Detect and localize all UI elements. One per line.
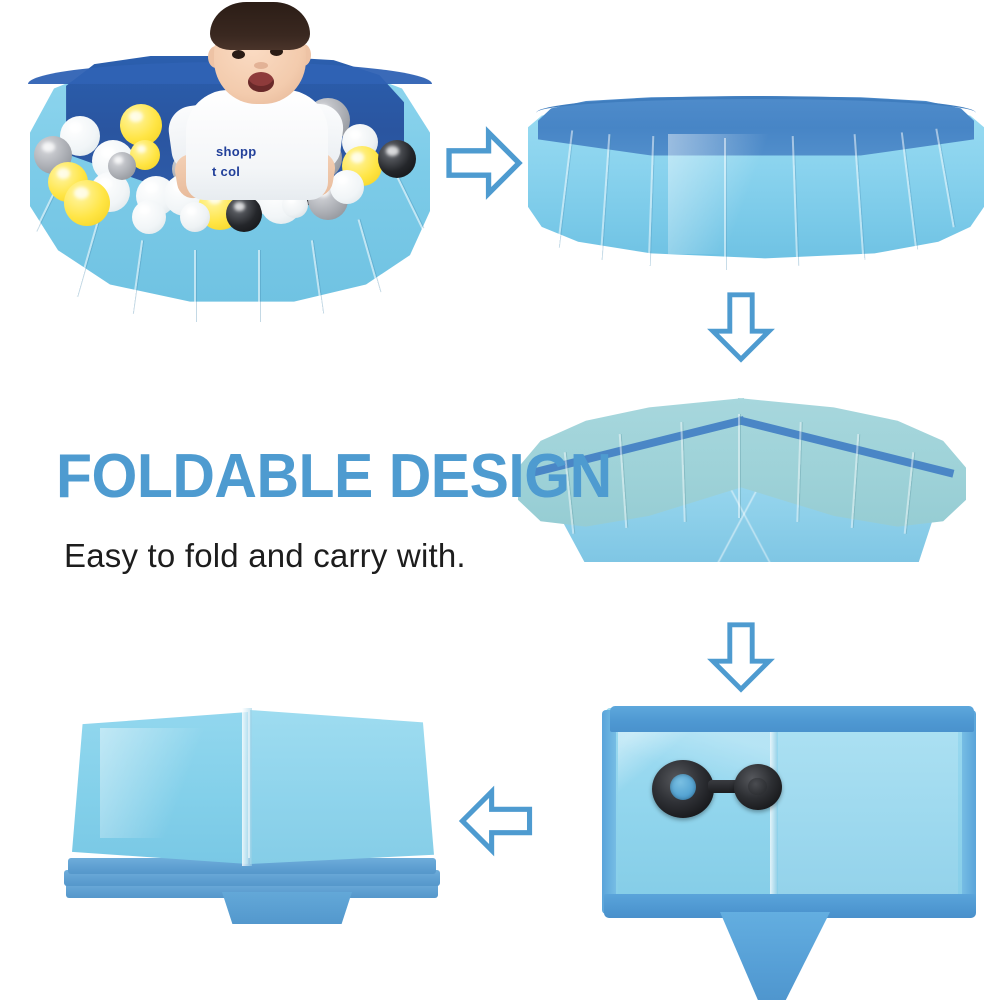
child-nose — [254, 62, 268, 69]
tshirt-text-line-2: t col — [212, 164, 322, 179]
fully-folded-stack-photo — [64, 694, 444, 924]
child-mouth — [248, 72, 274, 92]
headline-block: FOLDABLE DESIGN Easy to fold and carry w… — [56, 446, 486, 576]
folded-stack-tab — [222, 892, 352, 924]
folded-pool-crease — [770, 728, 777, 900]
drain-valve-opening — [670, 774, 696, 800]
unfolded-empty-pool-photo — [528, 88, 984, 274]
folded-pool-edge-left — [602, 710, 616, 914]
play-ball — [330, 170, 364, 204]
tshirt-text-line-1: shopp — [216, 144, 326, 159]
ballpit-panel-seam — [194, 250, 196, 322]
pool-panel-seam — [724, 138, 726, 270]
ball-pit-with-child-photo: shopp t col — [12, 0, 448, 325]
play-ball — [180, 202, 210, 232]
page-subtitle: Easy to fold and carry with. — [64, 538, 486, 574]
drain-valve-cap — [734, 764, 782, 810]
arrow-down-icon — [706, 292, 776, 362]
folded-stack-top-right — [250, 710, 434, 864]
child-hair — [210, 2, 310, 50]
folded-pool-edge-right — [962, 710, 976, 914]
folded-panel-seam — [738, 414, 740, 518]
child-eye-left — [232, 50, 245, 59]
folded-pool-edge-top — [610, 706, 974, 732]
folded-pool-hanging-flap — [720, 912, 830, 1000]
play-ball — [64, 180, 110, 226]
page-title: FOLDABLE DESIGN — [56, 446, 465, 508]
arrow-down-icon — [706, 622, 776, 692]
arrow-right-icon — [446, 126, 522, 200]
folded-stack-top-left — [72, 712, 248, 864]
play-ball — [108, 152, 136, 180]
child-figure: shopp t col — [182, 2, 332, 202]
folded-pool-with-drain-valve-photo — [596, 698, 986, 983]
play-ball — [378, 140, 416, 178]
infographic-page: shopp t col — [0, 0, 1000, 1000]
arrow-left-icon — [458, 786, 534, 856]
folded-panel-right — [778, 730, 958, 898]
folded-stack-crease — [242, 708, 252, 866]
pool-rim — [536, 96, 976, 113]
ballpit-panel-seam — [258, 250, 260, 322]
play-ball — [132, 200, 166, 234]
